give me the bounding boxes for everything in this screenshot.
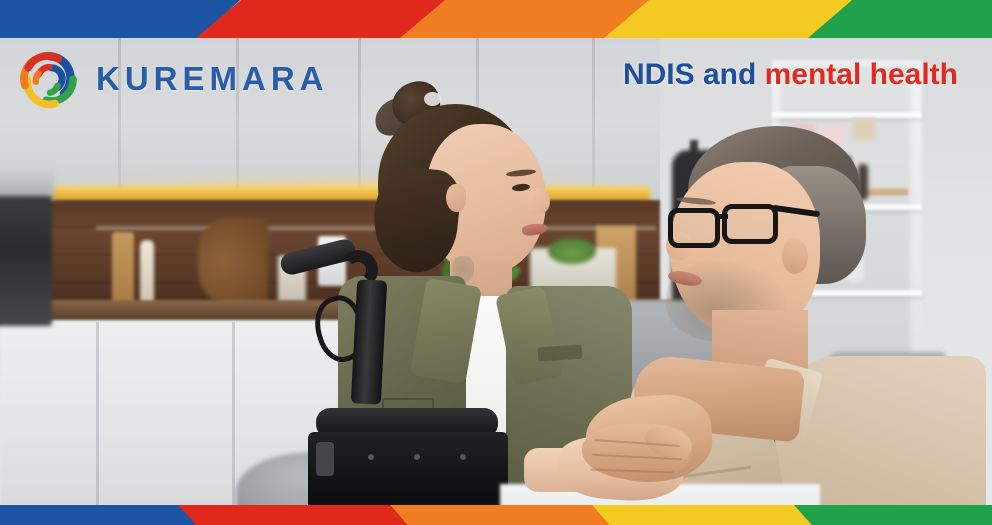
- wheelchair-bolt: [414, 454, 420, 460]
- banner-headline: NDIS and mental health: [623, 58, 958, 91]
- brand-wordmark: KUREMARA: [96, 62, 329, 95]
- bottom-color-banner: [0, 505, 992, 525]
- stripe-green: [794, 505, 992, 525]
- top-color-banner: [0, 0, 992, 38]
- cutting-board: [112, 232, 134, 306]
- nose: [528, 188, 550, 214]
- ndis-mental-health-banner: KUREMARA NDIS and mental health: [0, 0, 992, 525]
- wheelchair: [262, 236, 492, 525]
- stripe-red: [178, 505, 408, 525]
- eyeglasses-left-lens: [668, 208, 720, 248]
- round-cutting-board: [198, 218, 268, 304]
- swirl-spiral-logo-icon: [18, 46, 82, 110]
- headline-part-primary: NDIS and: [623, 58, 765, 91]
- clasped-hands: [560, 362, 790, 522]
- headline-part-accent: mental health: [765, 58, 958, 91]
- stripe-blue: [0, 505, 206, 525]
- stripe-orange: [390, 505, 610, 525]
- shelf-board: [772, 112, 922, 118]
- eyeglasses-right-lens: [722, 204, 778, 244]
- kitchen-utensil: [140, 240, 154, 306]
- wheelchair-bolt: [368, 454, 374, 460]
- hair-tie: [424, 92, 441, 106]
- kuremara-logo[interactable]: KUREMARA: [18, 46, 329, 110]
- cabinet-seam: [232, 322, 235, 522]
- wheelchair-backpost: [351, 279, 387, 404]
- ear: [782, 238, 808, 274]
- kitchen-appliance: [0, 196, 52, 326]
- eyeglasses-bridge: [716, 214, 728, 219]
- wheelchair-bolt: [460, 454, 466, 460]
- stripe-yellow: [592, 505, 812, 525]
- cabinet-seam: [96, 322, 99, 522]
- wheelchair-bracket: [316, 442, 334, 476]
- ear: [446, 184, 466, 212]
